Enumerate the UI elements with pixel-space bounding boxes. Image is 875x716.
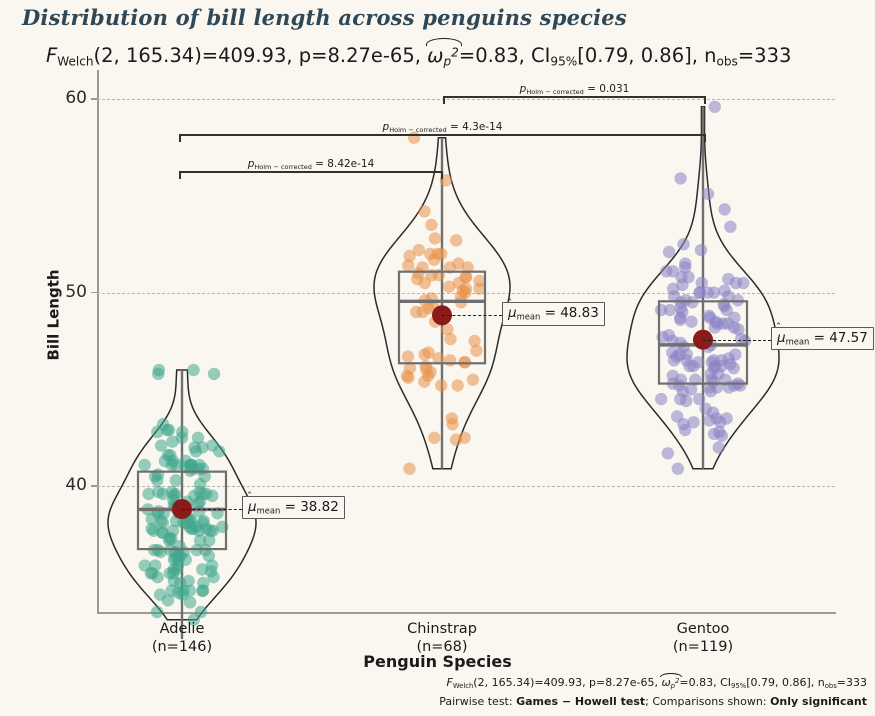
data-point: [655, 393, 667, 405]
bracket-p-label: pHolm − corrected = 4.3e-14: [179, 121, 706, 134]
data-point: [724, 221, 736, 233]
hat-decoration: [426, 38, 462, 46]
data-point: [444, 354, 456, 366]
data-point: [152, 368, 164, 380]
data-point: [693, 393, 705, 405]
x-tick-name-gentoo: Gentoo: [603, 620, 803, 638]
ci-value: [0.79, 0.86],: [577, 44, 698, 67]
bracket-tick-left: [179, 134, 181, 142]
data-point: [429, 232, 441, 244]
x-axis-spine: [97, 612, 836, 614]
data-point: [715, 360, 727, 372]
data-point: [737, 277, 749, 289]
caption-ci-value: [0.79, 0.86],: [746, 676, 814, 689]
bracket-p-value: = 8.42e-14: [315, 158, 374, 170]
caption-test-name: Games − Howell test: [516, 695, 645, 708]
data-point: [206, 439, 218, 451]
significance-bracket-adelie-gentoo: pHolm − corrected = 4.3e-14: [179, 134, 706, 144]
x-tick-label-gentoo: Gentoo(n=119): [603, 620, 803, 656]
bracket-tick-right: [704, 134, 706, 142]
data-point: [180, 554, 192, 566]
data-point: [732, 323, 744, 335]
stat-df: (2, 165.34)=409.93, p=8.27e-65,: [94, 44, 421, 67]
data-point: [660, 265, 672, 277]
caption-omega-symbol: ω: [661, 676, 670, 689]
bracket-tick-left: [443, 96, 445, 104]
x-axis-label: Penguin Species: [0, 652, 875, 671]
significance-bracket-adelie-chinstrap: pHolm − corrected = 8.42e-14: [179, 171, 443, 181]
caption-effect-value: =0.83,: [679, 676, 716, 689]
page-title: Distribution of bill length across pengu…: [22, 5, 627, 30]
mean-leader-gentoo: [703, 340, 771, 341]
bracket-p-subscript: Holm − corrected: [389, 126, 446, 134]
y-axis-label-wrap: Bill Length: [0, 255, 30, 375]
data-point: [720, 412, 732, 424]
caption-stat-subscript: Welch: [453, 682, 473, 690]
data-point: [418, 205, 430, 217]
mean-leader-adelie: [182, 509, 242, 510]
data-point: [672, 463, 684, 475]
ci-symbol: CI: [531, 44, 550, 67]
y-tick-mark-40: [91, 485, 97, 487]
data-point: [701, 286, 713, 298]
data-point: [138, 459, 150, 471]
data-point: [425, 219, 437, 231]
effect-value: =0.83,: [459, 44, 525, 67]
mean-value: = 48.83: [545, 305, 599, 321]
data-point: [203, 550, 215, 562]
data-point: [673, 379, 685, 391]
data-point: [473, 283, 485, 295]
data-point: [190, 445, 202, 457]
y-tick-label-50: 50: [65, 282, 87, 302]
data-point: [403, 463, 415, 475]
omega-superscript: 2: [451, 46, 459, 60]
data-point: [695, 244, 707, 256]
caption-line-1: FWelch(2, 165.34)=409.93, p=8.27e-65, ωp…: [446, 676, 867, 690]
bracket-tick-right: [704, 96, 706, 104]
mu-hat-symbol: ̂μ: [508, 305, 517, 321]
data-point: [674, 314, 686, 326]
data-point: [166, 435, 178, 447]
data-point: [708, 428, 720, 440]
caption-df: (2, 165.34)=409.93, p=8.27e-65,: [473, 676, 658, 689]
data-point: [675, 271, 687, 283]
stat-subscript: Welch: [57, 54, 93, 68]
data-point: [156, 526, 168, 538]
caption-ci-subscript: 95%: [731, 682, 746, 690]
mu-subscript: mean: [786, 336, 810, 346]
mean-value: = 38.82: [285, 499, 339, 515]
data-point: [187, 364, 199, 376]
plot-area: [97, 70, 835, 612]
x-tick-name-chinstrap: Chinstrap: [342, 620, 542, 638]
caption-hat-decoration: [660, 673, 682, 678]
mean-leader-chinstrap: [442, 315, 502, 316]
data-point: [208, 368, 220, 380]
caption-omega-superscript: 2: [675, 677, 679, 685]
mean-label-chinstrap: ̂μmean = 48.83: [502, 302, 605, 325]
data-point: [184, 596, 196, 608]
x-tick-name-adelie: Adelie: [82, 620, 282, 638]
bracket-tick-right: [441, 171, 443, 179]
data-point: [154, 588, 166, 600]
data-point: [184, 459, 196, 471]
violin-plot-graphics: [97, 70, 835, 612]
data-point: [712, 441, 724, 453]
data-point: [722, 273, 734, 285]
data-point: [402, 350, 414, 362]
caption-omega: ωp2: [661, 676, 679, 690]
data-point: [718, 203, 730, 215]
data-point: [402, 372, 414, 384]
data-point: [702, 188, 714, 200]
stats-subtitle: FWelch(2, 165.34)=409.93, p=8.27e-65, ωp…: [46, 44, 791, 68]
data-point: [443, 281, 455, 293]
n-symbol: n: [704, 44, 716, 67]
data-point: [193, 486, 205, 498]
data-point: [170, 459, 182, 471]
caption-line-2: Pairwise test: Games − Howell test; Comp…: [439, 695, 867, 708]
data-point: [203, 534, 215, 546]
bracket-tick-left: [179, 171, 181, 179]
data-point: [145, 567, 157, 579]
bracket-bar: [179, 171, 443, 173]
data-point: [428, 432, 440, 444]
data-point: [679, 257, 691, 269]
ci-subscript: 95%: [550, 54, 577, 68]
bracket-p-subscript: Holm − corrected: [526, 88, 583, 96]
data-point: [450, 234, 462, 246]
data-point: [422, 370, 434, 382]
data-point: [162, 449, 174, 461]
data-point: [403, 250, 415, 262]
mean-label-gentoo: ̂μmean = 47.57: [771, 327, 874, 350]
data-point: [168, 575, 180, 587]
y-tick-mark-50: [91, 292, 97, 294]
data-point: [685, 315, 697, 327]
bracket-p-value: = 4.3e-14: [450, 121, 502, 133]
data-point: [195, 606, 207, 618]
data-point: [703, 414, 715, 426]
data-point: [729, 348, 741, 360]
data-point: [451, 379, 463, 391]
y-axis-label: Bill Length: [45, 269, 63, 360]
data-point: [467, 374, 479, 386]
data-point: [705, 385, 717, 397]
caption-pairwise-prefix: Pairwise test:: [439, 695, 516, 708]
data-point: [196, 585, 208, 597]
bracket-p-value: = 0.031: [587, 83, 629, 95]
data-point: [709, 101, 721, 113]
omega-effect-size: ωp2: [427, 44, 459, 68]
data-point: [151, 606, 163, 618]
y-tick-label-60: 60: [65, 88, 87, 108]
data-point: [418, 348, 430, 360]
data-point: [673, 348, 685, 360]
data-point: [411, 273, 423, 285]
data-point: [662, 447, 674, 459]
bracket-p-subscript: Holm − corrected: [254, 163, 311, 171]
data-point: [687, 416, 699, 428]
caption-n-value: =333: [837, 676, 867, 689]
n-value: =333: [738, 44, 792, 67]
mean-label-adelie: ̂μmean = 38.82: [242, 496, 345, 519]
data-point: [468, 335, 480, 347]
data-point: [176, 426, 188, 438]
stat-symbol: F: [46, 44, 57, 67]
data-point: [163, 424, 175, 436]
data-point: [664, 304, 676, 316]
mu-hat-symbol: ̂μ: [248, 499, 257, 515]
data-point: [170, 474, 182, 486]
caption-n-subscript: obs: [825, 682, 837, 690]
y-tick-label-40: 40: [65, 475, 87, 495]
caption-ci-symbol: CI: [720, 676, 731, 689]
data-point: [674, 172, 686, 184]
data-point: [205, 565, 217, 577]
data-point: [663, 246, 675, 258]
significance-bracket-chinstrap-gentoo: pHolm − corrected = 0.031: [443, 96, 706, 106]
data-point: [458, 432, 470, 444]
mu-subscript: mean: [517, 312, 541, 322]
data-point: [734, 379, 746, 391]
bracket-p-label: pHolm − corrected = 0.031: [443, 83, 706, 96]
mu-subscript: mean: [257, 505, 281, 515]
bracket-p-label: pHolm − corrected = 8.42e-14: [179, 158, 443, 171]
caption-comparisons-shown: Only significant: [770, 695, 867, 708]
y-tick-mark-60: [91, 98, 97, 100]
data-point: [424, 248, 436, 260]
x-tick-label-chinstrap: Chinstrap(n=68): [342, 620, 542, 656]
caption-mid: ; Comparisons shown:: [645, 695, 770, 708]
bracket-bar: [179, 134, 706, 136]
data-point: [460, 283, 472, 295]
data-point: [452, 257, 464, 269]
data-point: [197, 463, 209, 475]
data-point: [703, 310, 715, 322]
mu-hat-symbol: ̂μ: [777, 330, 786, 346]
data-point: [169, 488, 181, 500]
data-point: [142, 488, 154, 500]
bracket-bar: [443, 96, 706, 98]
data-point: [435, 379, 447, 391]
omega-symbol: ω: [427, 44, 443, 67]
x-tick-label-adelie: Adelie(n=146): [82, 620, 282, 656]
mean-value: = 47.57: [814, 330, 868, 346]
n-subscript: obs: [716, 54, 737, 68]
data-point: [692, 356, 704, 368]
data-point: [146, 513, 158, 525]
data-point: [677, 238, 689, 250]
data-point: [446, 412, 458, 424]
caption-n-symbol: n: [818, 676, 825, 689]
